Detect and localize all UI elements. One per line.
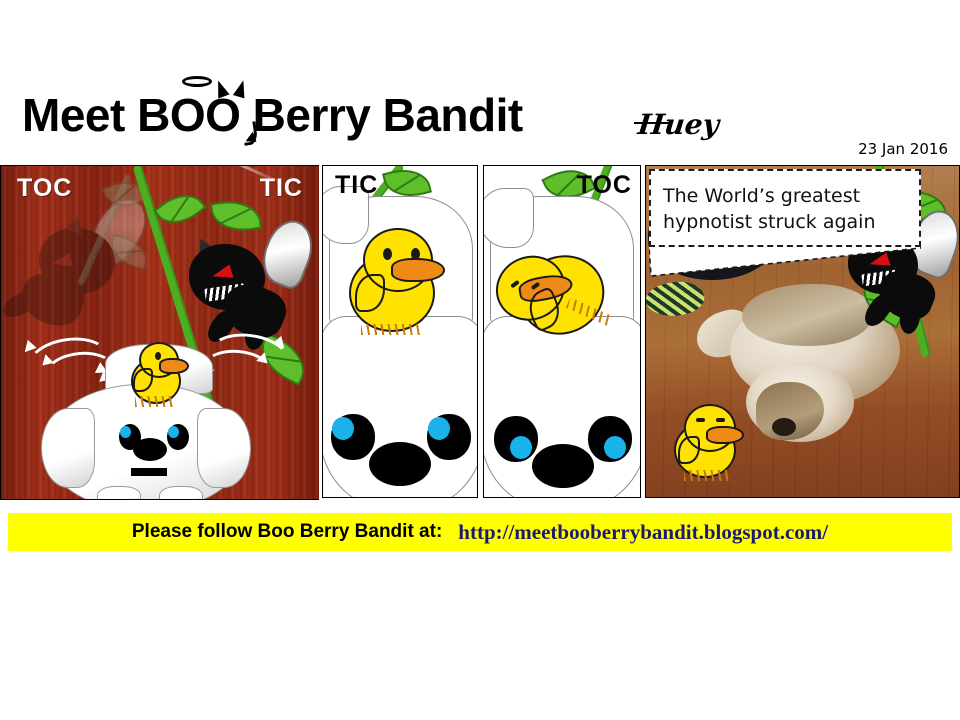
caption-line-2: hypnotist struck again: [663, 211, 876, 233]
dog-closeup-eye-right: [427, 414, 471, 460]
photo-dog-nose: [772, 418, 796, 436]
duck-eye-closed-right: [716, 418, 725, 422]
duck-eye-left: [383, 248, 392, 260]
page-title: Meet BOO Berry Bandit: [22, 92, 523, 138]
footer-blog-url[interactable]: http://meetbooberrybandit.blogspot.com/: [458, 520, 828, 545]
duck-figure-panel2: [345, 228, 445, 340]
caption-box: The World’s greatest hypnotist struck ag…: [649, 169, 921, 247]
dog-closeup-nose: [369, 442, 431, 486]
duck-feet: [361, 324, 421, 335]
duck-beak: [706, 426, 744, 444]
duck-feet: [684, 470, 730, 481]
devil-tail-icon: [241, 121, 258, 146]
panel-3-label-toc: TOC: [577, 171, 632, 200]
title-row: Meet BOO Berry Bandit Huey 23 Jan 2016: [0, 0, 960, 165]
title-part-boo: OO: [170, 89, 241, 141]
title-part-before: Meet B: [22, 89, 170, 141]
dog-ear-right: [197, 408, 251, 488]
vine-leaf-top-1: [153, 184, 206, 235]
photo-chew-toy: [645, 276, 707, 321]
dog-eye-right: [167, 424, 189, 450]
footer-follow-text: Please follow Boo Berry Bandit at:: [132, 521, 442, 543]
dog-closeup-eye-left: [331, 414, 375, 460]
dog-paw-right: [159, 486, 203, 500]
duck-figure-panel4-asleep: [672, 404, 752, 480]
title-part-after: Berry Bandit: [240, 89, 522, 141]
caption-line-1: The World’s greatest: [663, 185, 860, 207]
duck-feet: [135, 396, 173, 407]
comic-date: 23 Jan 2016: [858, 140, 948, 158]
comic-panel-4-photo: The World’s greatest hypnotist struck ag…: [645, 165, 960, 498]
duck-eye-right: [411, 248, 420, 260]
dog-nose: [133, 438, 167, 461]
cat-eye-red: [213, 263, 235, 277]
dog-closeup-nose: [532, 444, 594, 488]
panel-1-label-toc: TOC: [17, 174, 72, 203]
artist-signature: Huey: [636, 108, 720, 141]
dog-ear-left: [41, 408, 95, 488]
vine-leaf-top-2: [210, 197, 262, 235]
duck-eye-closed-left: [696, 418, 705, 422]
duck-beak: [391, 258, 445, 282]
comic-panel-3: TOC: [483, 165, 641, 498]
comic-panel-strip: TOC TIC: [0, 165, 960, 498]
caption-text: The World’s greatest hypnotist struck ag…: [663, 183, 911, 235]
dog-closeup-eye-left-hypnotized: [494, 416, 538, 462]
duck-eye: [155, 352, 161, 360]
caption-pointer: [649, 246, 921, 278]
comic-panel-1: TOC TIC: [0, 165, 319, 500]
dog-closeup-pupil-left: [510, 436, 532, 459]
dog-mouth: [131, 468, 167, 476]
panel-1-label-tic: TIC: [260, 174, 303, 203]
dog-paw-left: [97, 486, 141, 500]
duck-figure-panel1: [127, 342, 193, 404]
dog-closeup-pupil-right: [604, 436, 626, 459]
footer-banner: Please follow Boo Berry Bandit at: http:…: [8, 513, 952, 551]
duck-beak: [159, 358, 189, 374]
dog-pupil-right: [168, 426, 179, 438]
dog-closeup-pupil-right: [428, 417, 450, 440]
dog-closeup-pupil-left: [332, 417, 354, 440]
dog-closeup-eye-right-hypnotized: [588, 416, 632, 462]
panel-2-label-tic: TIC: [335, 171, 378, 200]
dog-pupil-left: [120, 426, 131, 438]
title-boo-group: OO: [170, 92, 241, 138]
signature-underline: [634, 122, 670, 124]
comic-panel-2: TIC: [322, 165, 478, 498]
halo-icon: [182, 76, 212, 87]
